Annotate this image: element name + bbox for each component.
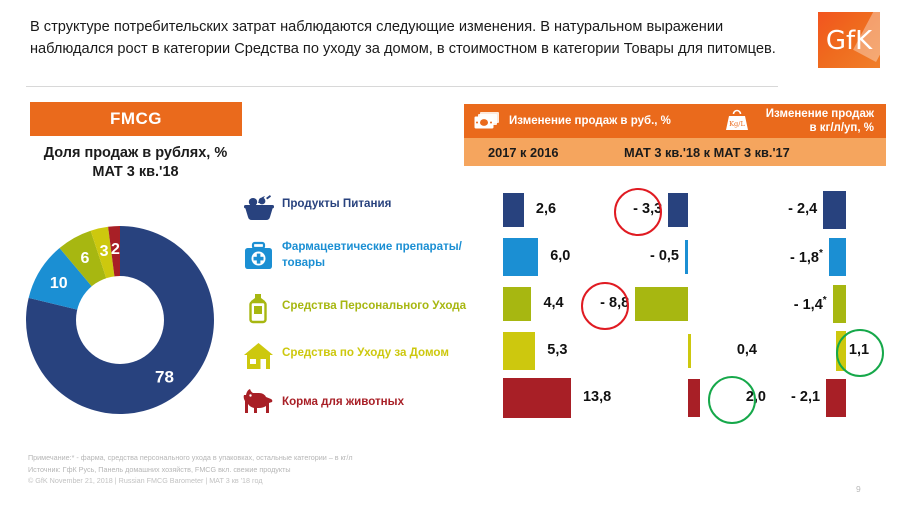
slide: В структуре потребительских затрат наблю… <box>0 0 900 506</box>
volume-header-line1: Изменение продаж <box>766 108 874 120</box>
volume-mat-bar <box>833 285 846 323</box>
donut-chart-title: Доля продаж в рублях, % MAT 3 кв.'18 <box>18 144 253 182</box>
money-mat-bar <box>688 334 691 368</box>
footnote-line3: © GfK November 21, 2018 | Russian FMCG B… <box>28 475 728 487</box>
period-right-label: MAT 3 кв.'18 к MAT 3 кв.'17 <box>624 145 790 160</box>
money-2017-value: 5,3 <box>547 342 567 358</box>
volume-mat-value: - 1,4* <box>771 295 827 313</box>
bar-row: 4,4- 8,8- 1,4* <box>0 280 900 327</box>
bar-row: 5,30,41,11,1 <box>0 327 900 374</box>
money-2017-value: 4,4 <box>543 295 563 311</box>
volume-mat-bar <box>829 238 846 276</box>
bar-row: 6,0- 0,5- 1,8* <box>0 233 900 280</box>
gfk-logo: GfK <box>818 12 880 68</box>
money-2017-bar <box>503 193 524 227</box>
money-2017-value: 2,6 <box>536 201 556 217</box>
donut-title-line2: MAT 3 кв.'18 <box>18 163 253 182</box>
period-left-label: 2017 к 2016 <box>488 145 558 160</box>
volume-mat-value: - 1,8* <box>767 248 823 266</box>
volume-mat-bar <box>823 191 846 229</box>
volume-column-header: Kg/L Изменение продаж в кг/л/уп, % <box>718 104 886 138</box>
volume-mat-bar <box>826 379 846 417</box>
volume-column-header-label: Изменение продаж в кг/л/уп, % <box>756 107 874 135</box>
money-column-header: Изменение продаж в руб., % <box>464 104 718 138</box>
footnote-line2: Источник: ГфК Русь, Панель домашних хозя… <box>28 464 728 476</box>
money-2017-value: 6,0 <box>550 248 570 264</box>
money-2017-bar <box>503 287 531 321</box>
bar-chart-rows: 2,6- 3,3- 2,46,0- 0,5- 1,8*4,4- 8,8- 1,4… <box>0 186 900 421</box>
logo-text: GfK <box>826 26 872 56</box>
volume-mat-value-highlighted: 1,1 <box>848 342 870 358</box>
money-mat-bar <box>635 287 688 321</box>
money-mat-bar <box>668 193 688 227</box>
fmcg-banner: FMCG <box>30 102 242 136</box>
money-mat-bar <box>688 379 700 417</box>
highlight-circle <box>581 282 629 330</box>
page-title: В структуре потребительских затрат наблю… <box>30 16 790 60</box>
money-2017-bar <box>503 238 538 276</box>
volume-mat-value: - 2,1 <box>764 389 820 405</box>
header-divider <box>26 86 778 87</box>
money-2017-bar <box>503 332 535 370</box>
bar-row: 2,6- 3,3- 2,4 <box>0 186 900 233</box>
volume-mat-value: - 2,4 <box>761 201 817 217</box>
highlight-circle <box>708 376 756 424</box>
weight-kgl-icon: Kg/L <box>724 108 750 134</box>
footnote-line1: Примечание:* - фарма, средства персональ… <box>28 452 728 464</box>
footnote-mark: * <box>823 295 827 306</box>
period-subheader: 2017 к 2016 MAT 3 кв.'18 к MAT 3 кв.'17 <box>464 138 886 166</box>
money-mat-value: - 0,5 <box>625 248 679 264</box>
money-2017-value: 13,8 <box>583 389 611 405</box>
bar-row: 13,82,0- 2,1 <box>0 374 900 421</box>
money-2017-bar <box>503 378 571 418</box>
footnote-mark: * <box>819 248 823 259</box>
fmcg-label: FMCG <box>110 109 162 129</box>
money-mat-value: 0,4 <box>703 342 757 358</box>
volume-header-line2: в кг/л/уп, % <box>810 122 874 134</box>
donut-title-line1: Доля продаж в рублях, % <box>18 144 253 163</box>
page-number: 9 <box>856 484 861 494</box>
money-mat-bar <box>685 240 688 274</box>
highlight-circle <box>614 188 662 236</box>
banknotes-icon <box>473 111 501 131</box>
svg-text:Kg/L: Kg/L <box>729 120 745 128</box>
money-column-header-label: Изменение продаж в руб., % <box>509 114 671 128</box>
footnotes: Примечание:* - фарма, средства персональ… <box>28 452 728 487</box>
